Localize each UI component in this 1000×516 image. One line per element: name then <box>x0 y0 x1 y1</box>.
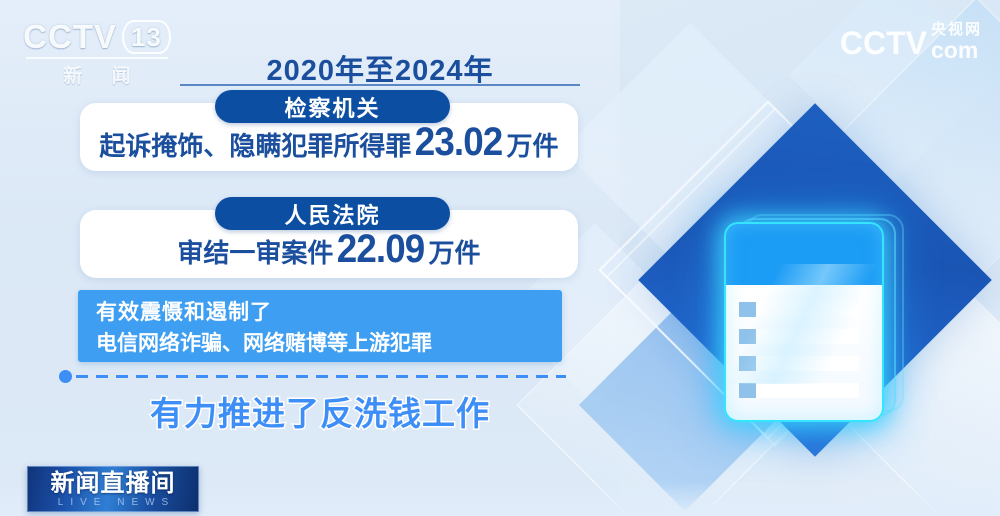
dashed-divider <box>76 375 566 378</box>
watermark-cn-text: 央视网 <box>931 22 982 37</box>
stat-line-2: 审结一审案件 22.09 万件 <box>177 227 480 272</box>
info-box: 有效震慑和遏制了 电信网络诈骗、网络赌博等上游犯罪 <box>78 290 562 362</box>
info-box-line-2: 电信网络诈骗、网络赌博等上游犯罪 <box>96 328 562 359</box>
final-title: 有力推进了反洗钱工作 <box>60 387 580 435</box>
live-program-banner: 新闻直播间 LIVE NEWS <box>27 466 199 512</box>
stat-number-2: 22.09 <box>337 227 425 272</box>
cctv-com-watermark: CCTV 央视网 com <box>840 22 982 62</box>
cctv13-logo: CCTV 13 新 闻 <box>22 18 172 88</box>
stat-text-1: 起诉掩饰、隐瞒犯罪所得罪 <box>99 126 411 163</box>
cctv13-subtitle: 新 闻 <box>22 61 172 88</box>
watermark-right-group: 央视网 com <box>931 22 982 62</box>
stat-pill-2: 人民法院 <box>215 197 450 230</box>
watermark-com-text: com <box>931 39 978 62</box>
cctv13-divider <box>26 57 168 59</box>
page-title-underline <box>180 84 580 86</box>
stat-text-2: 审结一审案件 <box>177 233 333 270</box>
page-title: 2020年至2024年 <box>180 47 580 89</box>
cctv13-brand-text: CCTV <box>23 18 117 56</box>
stat-line-1: 起诉掩饰、隐瞒犯罪所得罪 23.02 万件 <box>99 120 558 165</box>
banner-program-name: 新闻直播间 <box>51 471 176 497</box>
stat-pill-1: 检察机关 <box>215 90 450 123</box>
cctv13-logo-row: CCTV 13 <box>22 18 172 56</box>
stat-number-1: 23.02 <box>415 120 503 165</box>
timeline-dot <box>59 370 72 383</box>
watermark-brand-text: CCTV <box>840 25 927 62</box>
info-box-line-1: 有效震慑和遏制了 <box>96 297 562 328</box>
cctv13-channel-number: 13 <box>122 20 171 54</box>
stat-unit-2: 万件 <box>429 233 481 270</box>
stat-unit-1: 万件 <box>507 126 559 163</box>
banner-program-subtitle: LIVE NEWS <box>51 497 175 508</box>
